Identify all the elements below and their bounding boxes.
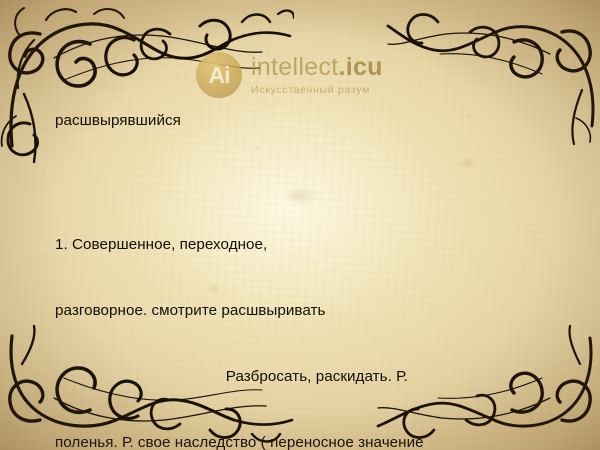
headword: расшвырявшийся: [55, 110, 592, 132]
definition-line: Разбросать, раскидать. Р.: [55, 366, 592, 388]
dictionary-slide: Ai intellect.icu Искусственный разум рас…: [0, 0, 600, 450]
definition-line: разговорное. смотрите расшвыривать: [55, 300, 592, 322]
definition-line: 1. Совершенное, переходное,: [55, 234, 592, 256]
paragraph-spacer: [55, 176, 592, 190]
dictionary-text-body: расшвырявшийся 1. Совершенное, переходно…: [0, 0, 600, 450]
definition-line: поленья. Р. свое наследство ( переносное…: [55, 432, 592, 450]
